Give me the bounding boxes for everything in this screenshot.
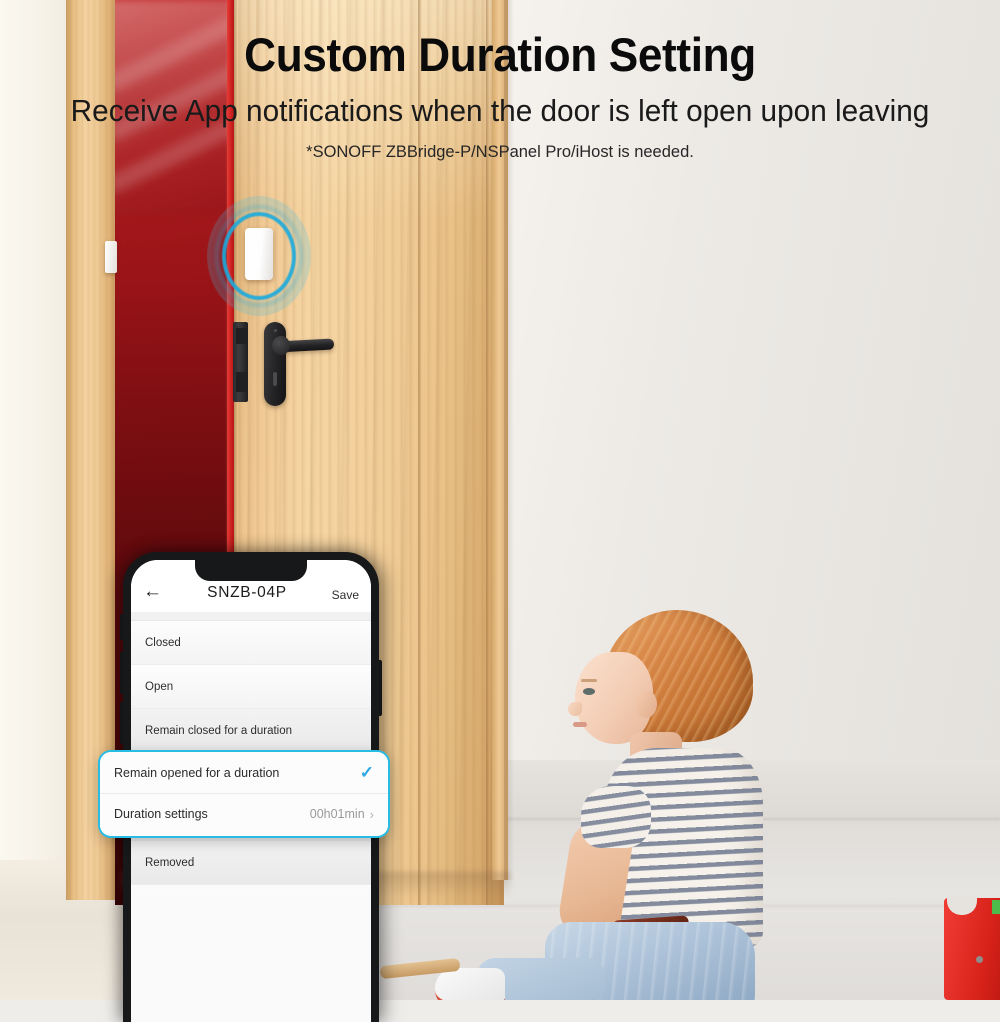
child-eyebrow (581, 679, 597, 682)
chevron-right-icon: › (370, 808, 374, 821)
door-handle-plate (264, 322, 286, 406)
headings-block: Custom Duration Setting Receive App noti… (0, 0, 1000, 160)
toy-notch (947, 897, 977, 915)
child-shoe (435, 968, 505, 1000)
option-label: Remain opened for a duration (114, 766, 360, 780)
toy-screw-icon (976, 956, 983, 963)
handle-screw-icon (274, 329, 277, 332)
list-item-closed[interactable]: Closed (131, 621, 371, 665)
highlighted-duration-card: Remain opened for a duration ✓ Duration … (98, 750, 390, 838)
door-window-sensor (245, 228, 273, 280)
duration-settings-label: Duration settings (114, 807, 310, 821)
page-title: Custom Duration Setting (30, 0, 970, 78)
phone-volume-up-button[interactable] (120, 652, 123, 694)
duration-settings-value: 00h01min (310, 807, 365, 821)
child-sleeve (581, 786, 651, 848)
list-item-open[interactable]: Open (131, 665, 371, 709)
child-figure (555, 600, 845, 1000)
checkmark-icon: ✓ (360, 764, 374, 781)
child-eye (583, 688, 595, 695)
door-handle-hub (272, 336, 290, 355)
option-remain-opened[interactable]: Remain opened for a duration ✓ (100, 752, 388, 793)
list-item-label: Open (145, 681, 173, 693)
red-toy-block (944, 898, 1000, 1000)
door-strike-bolt-bottom (236, 372, 248, 392)
phone-mute-switch[interactable] (120, 614, 123, 640)
signal-rings (219, 208, 299, 304)
phone-volume-down-button[interactable] (120, 702, 123, 744)
door-strike-bolt-top (236, 328, 248, 344)
phone-power-button[interactable] (379, 660, 382, 716)
page-footnote: *SONOFF ZBBridge-P/NSPanel Pro/iHost is … (15, 126, 985, 160)
list-item-label: Closed (145, 637, 181, 649)
toy-green-accent (992, 900, 1000, 914)
phone-notch (195, 560, 307, 581)
app-page-title: SNZB-04P (169, 584, 325, 602)
list-item-removed[interactable]: Removed (131, 841, 371, 885)
child-mouth (573, 722, 587, 727)
keyhole-icon (273, 372, 277, 386)
save-button[interactable]: Save (325, 588, 359, 602)
duration-settings-row[interactable]: Duration settings 00h01min › (100, 793, 388, 834)
child-ear (635, 690, 657, 718)
sensor-magnet (105, 241, 117, 273)
list-item-label: Remain closed for a duration (145, 725, 292, 737)
page-subtitle: Receive App notifications when the door … (20, 78, 980, 126)
back-arrow-icon[interactable]: ← (143, 580, 169, 602)
child-nose (568, 702, 582, 716)
list-top-spacer (131, 612, 371, 621)
list-item-remain-closed[interactable]: Remain closed for a duration (131, 709, 371, 753)
list-item-label: Removed (145, 857, 194, 869)
